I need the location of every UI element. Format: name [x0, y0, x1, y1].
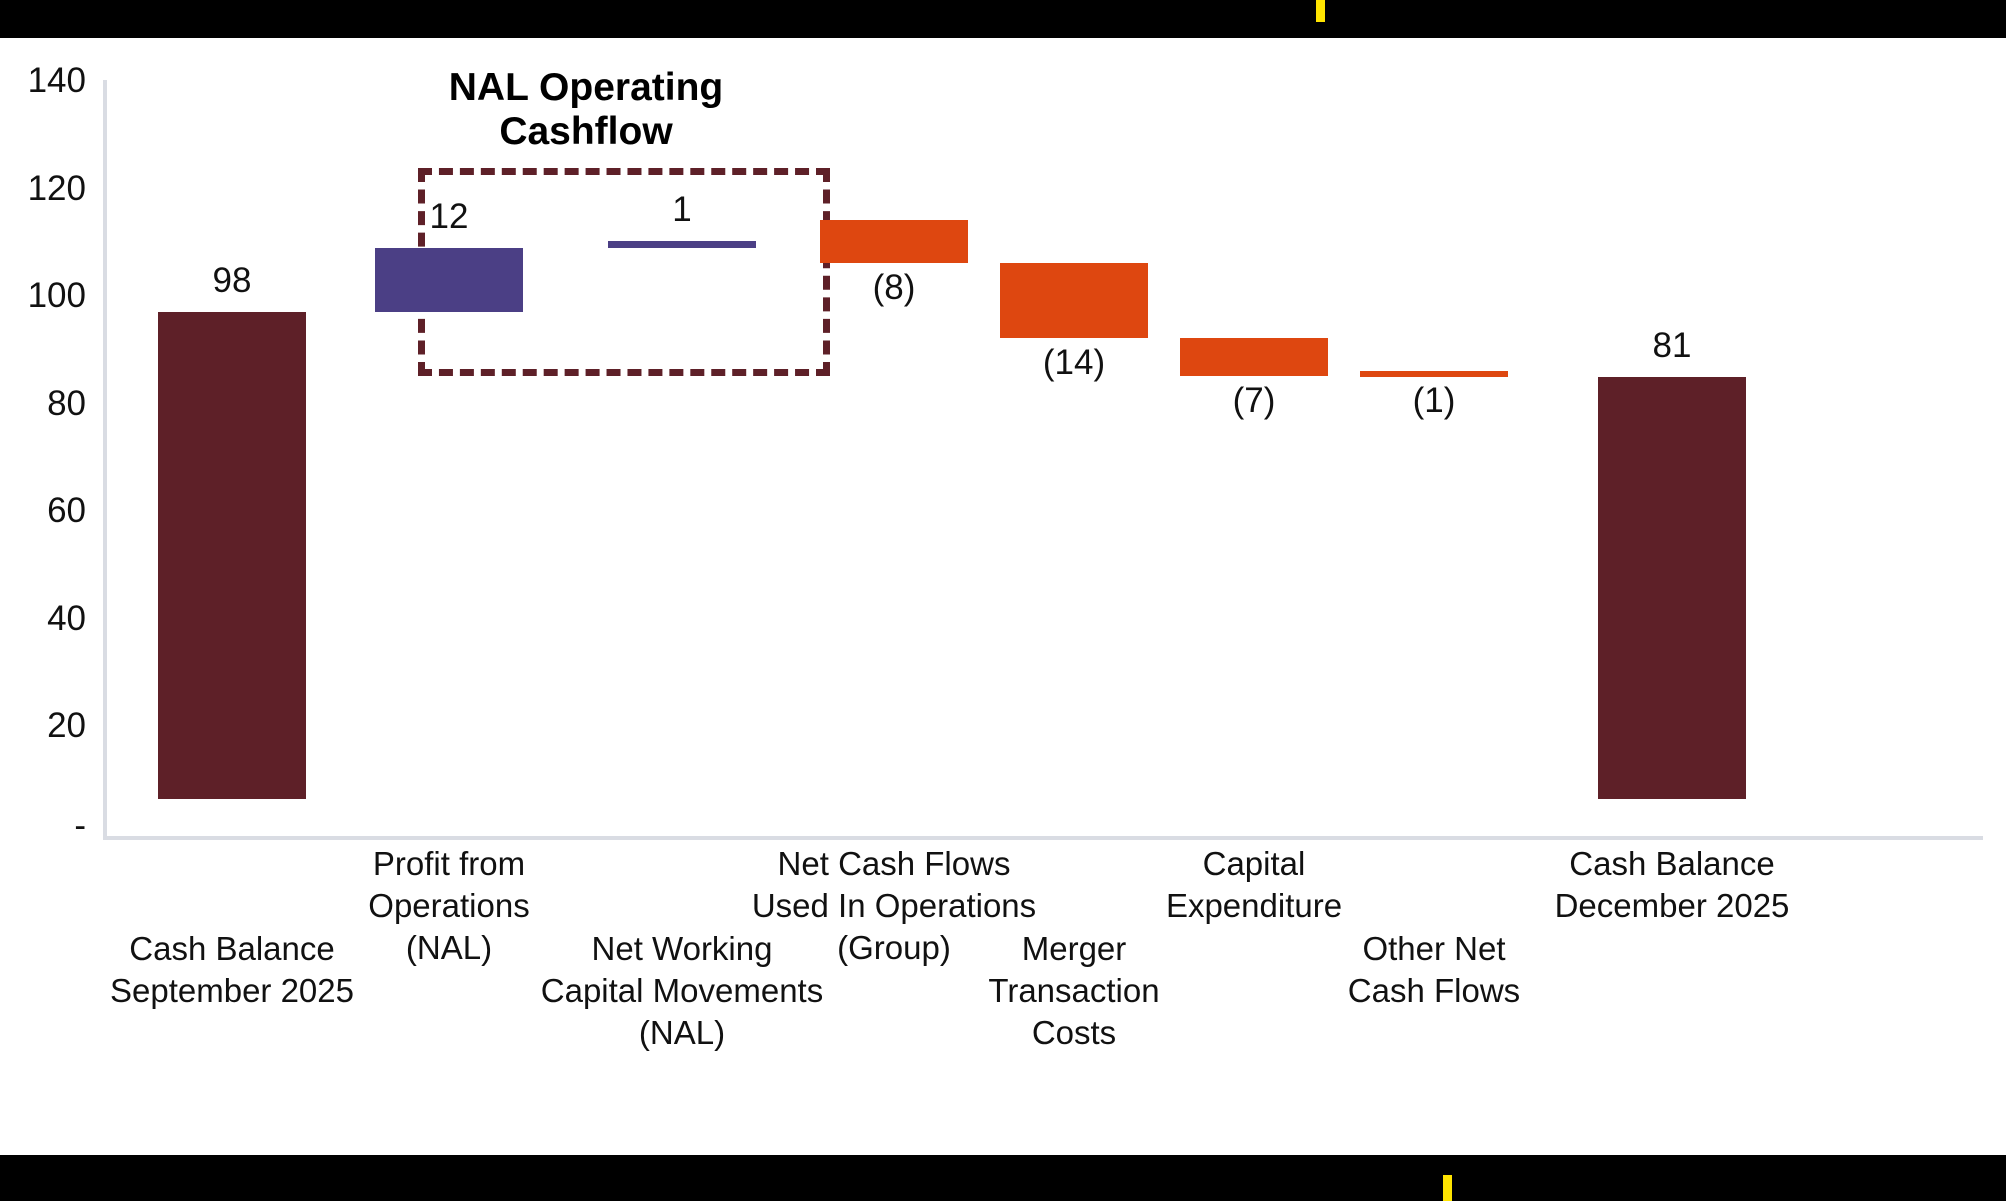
bar-label-12: 12 — [375, 199, 523, 234]
bar-cash-balance-december-2025[interactable] — [1598, 377, 1746, 799]
bar-label-1: 1 — [608, 192, 756, 227]
slide-canvas: 140 120 100 80 60 40 20 - NAL Operating … — [0, 0, 2006, 1201]
y-tick-140: 140 — [0, 63, 86, 98]
bar-merger-transaction-costs[interactable] — [1000, 263, 1148, 338]
bar-label-98: 98 — [158, 263, 306, 298]
category-label-other-net-cash-flows: Other Net Cash Flows — [1234, 928, 1634, 1012]
x-axis-line — [103, 836, 1983, 840]
annotation-title: NAL Operating Cashflow — [416, 66, 756, 153]
bar-label-7: (7) — [1180, 383, 1328, 418]
annotation-title-line-1: NAL Operating — [416, 66, 756, 110]
y-tick-120: 120 — [0, 171, 86, 206]
bar-net-cash-flows-used-in-operations-group[interactable] — [820, 220, 968, 263]
y-tick-60: 60 — [0, 493, 86, 528]
bar-net-working-capital-movements-nal[interactable] — [608, 241, 756, 248]
bar-label-8: (8) — [820, 270, 968, 305]
y-tick-0: - — [0, 808, 86, 843]
bar-label-14: (14) — [1000, 345, 1148, 380]
bottom-band-marker — [1443, 1175, 1452, 1201]
category-label-capital-expenditure: Capital Expenditure — [1054, 843, 1454, 927]
y-axis-line — [103, 80, 107, 840]
bottom-letterbox-band — [0, 1155, 2006, 1201]
annotation-title-line-2: Cashflow — [416, 110, 756, 154]
bar-other-net-cash-flows[interactable] — [1360, 371, 1508, 377]
category-label-merger-transaction-costs: Merger Transaction Costs — [874, 928, 1274, 1055]
waterfall-chart: 140 120 100 80 60 40 20 - NAL Operating … — [0, 38, 2006, 1155]
bar-capital-expenditure[interactable] — [1180, 338, 1328, 376]
y-tick-100: 100 — [0, 278, 86, 313]
y-tick-80: 80 — [0, 386, 86, 421]
category-label-cash-balance-december-2025: Cash Balance December 2025 — [1472, 843, 1872, 927]
y-tick-40: 40 — [0, 601, 86, 636]
bar-label-1-neg: (1) — [1360, 383, 1508, 418]
bar-label-81: 81 — [1598, 328, 1746, 363]
bar-profit-from-operations-nal[interactable] — [375, 248, 523, 312]
y-tick-20: 20 — [0, 708, 86, 743]
top-band-marker — [1316, 0, 1325, 22]
bar-cash-balance-september-2025[interactable] — [158, 312, 306, 799]
top-letterbox-band — [0, 0, 2006, 38]
